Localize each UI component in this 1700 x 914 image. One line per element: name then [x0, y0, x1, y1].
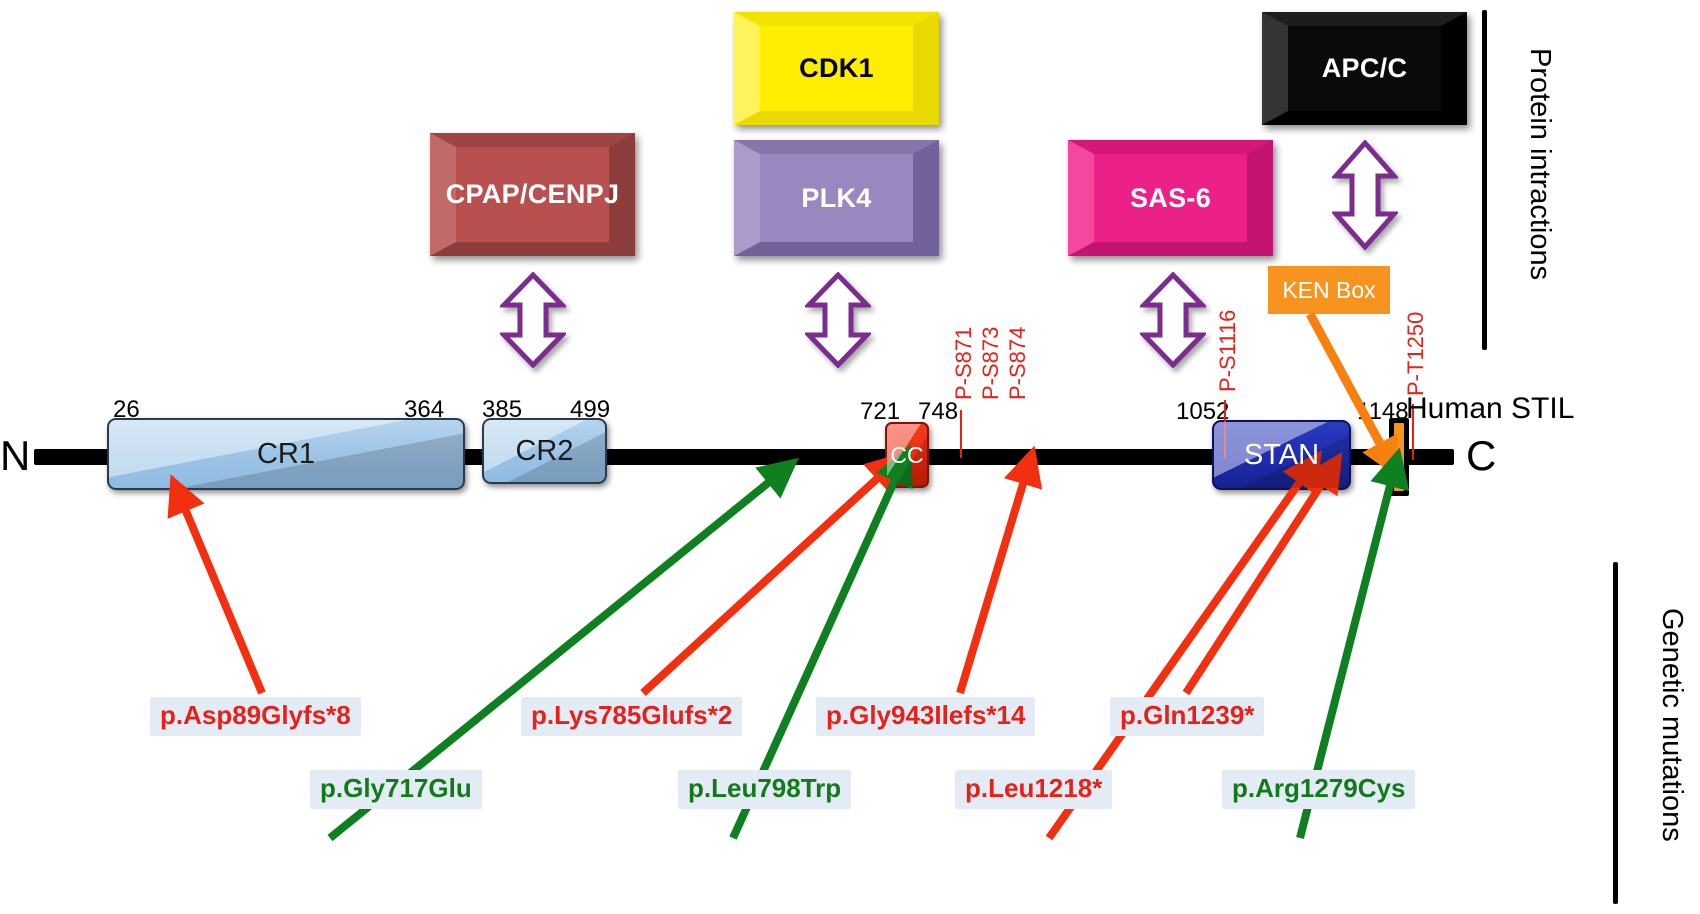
ken-box-marker: [1389, 418, 1409, 496]
mutation-label-gly943: p.Gly943Ilefs*14: [816, 697, 1035, 736]
mutation-label-leu1218: p.Leu1218*: [955, 770, 1112, 809]
mutation-label-lys785: p.Lys785Glufs*2: [521, 697, 742, 736]
n-terminus-label: N: [0, 432, 30, 480]
mutation-label-gly717: p.Gly717Glu: [310, 770, 482, 809]
interaction-box-label: SAS-6: [1130, 183, 1211, 214]
domain-cc-end: 748: [918, 398, 958, 426]
interaction-box-apcc: APC/C: [1262, 12, 1467, 125]
arrow-lys785: [643, 465, 892, 693]
section-rule-protein-interactions: [1482, 10, 1487, 350]
phospho-label-s871: P-S871: [951, 327, 977, 400]
mutation-label-leu798: p.Leu798Trp: [678, 770, 851, 809]
ken-box-label: KEN Box: [1282, 277, 1375, 304]
section-label-protein-interactions: Protein intractions: [1523, 48, 1556, 280]
mutation-label-gln1239: p.Gln1239*: [1110, 697, 1264, 736]
domain-label: CC: [890, 442, 923, 469]
interaction-box-label: PLK4: [801, 183, 871, 214]
interaction-box-plk4: PLK4: [734, 140, 939, 256]
phospho-label-s874: P-S874: [1005, 327, 1031, 400]
domain-cr2: CR2: [482, 418, 607, 484]
double-arrow-plk4: [805, 272, 871, 368]
arrow-asp89: [178, 492, 262, 693]
section-label-genetic-mutations: Genetic mutations: [1655, 608, 1688, 842]
mutation-label-arg1279: p.Arg1279Cys: [1222, 770, 1415, 809]
phospho-label-s873: P-S873: [978, 327, 1004, 400]
interaction-box-cdk1: CDK1: [734, 12, 939, 125]
ken-box-marker-fill: [1394, 423, 1404, 491]
interaction-box-label: CDK1: [799, 53, 874, 84]
domain-cc-start: 721: [860, 398, 900, 426]
domain-cr1: CR1: [107, 418, 465, 490]
double-arrow-sas6: [1140, 272, 1206, 368]
interaction-box-sas6: SAS-6: [1068, 140, 1273, 256]
phospho-label-s1116: P-S1116: [1215, 310, 1241, 392]
section-rule-genetic-mutations: [1613, 562, 1618, 904]
arrow-gln1239: [1186, 468, 1332, 693]
ken-box-callout: KEN Box: [1268, 266, 1390, 314]
figure-canvas: CPAP/CENPJ CDK1 PLK4 SAS-6 APC/C KEN Box…: [0, 0, 1700, 914]
interaction-box-label: CPAP/CENPJ: [446, 179, 620, 210]
phospho-tick-s871: [960, 410, 962, 458]
phospho-label-t1250: P-T1250: [1403, 312, 1429, 396]
double-arrow-cpap: [500, 272, 566, 368]
protein-name-label: Human STIL: [1406, 392, 1574, 426]
interaction-box-label: APC/C: [1322, 53, 1408, 84]
interaction-box-cpap-cenpj: CPAP/CENPJ: [430, 133, 635, 256]
arrow-gly943: [960, 464, 1029, 693]
c-terminus-label: C: [1466, 432, 1496, 480]
double-arrow-apcc: [1332, 140, 1398, 250]
domain-cc: CC: [885, 422, 929, 488]
domain-label: CR2: [515, 435, 573, 468]
domain-label: CR1: [257, 438, 315, 471]
domain-label: STAN: [1244, 439, 1319, 472]
mutation-label-asp89: p.Asp89Glyfs*8: [150, 697, 361, 736]
domain-stan: STAN: [1212, 420, 1351, 490]
